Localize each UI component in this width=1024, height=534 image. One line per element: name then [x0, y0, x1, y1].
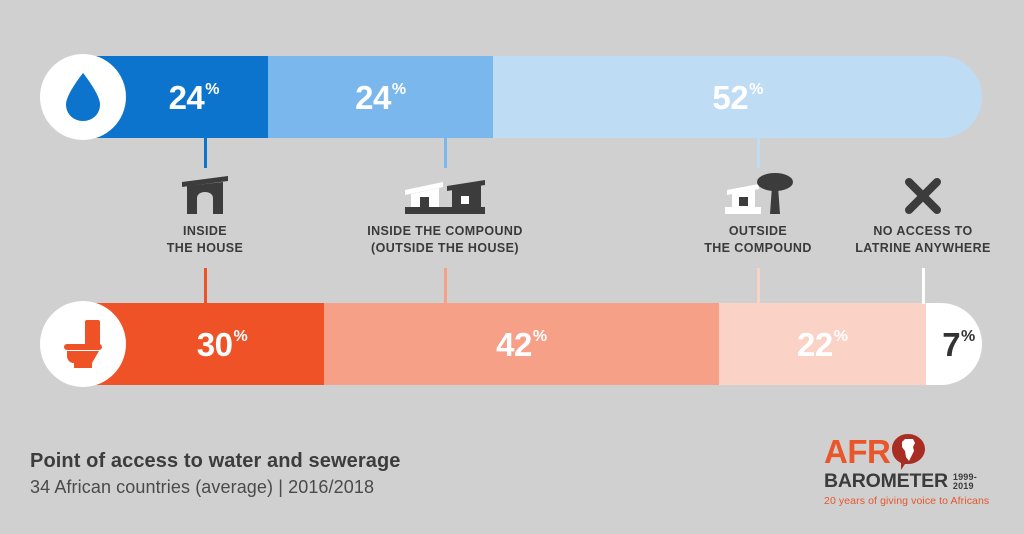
logo-barometer-row: BAROMETER 1999-2019 — [824, 472, 996, 492]
water-segment-inside-compound: 24% — [268, 56, 494, 138]
category-label-3: NO ACCESS TO LATRINE ANYWHERE — [838, 223, 1008, 257]
infographic-canvas: 24% 24% 52% 30% 42% 22% 7% — [0, 0, 1024, 534]
category-label-0: INSIDE THE HOUSE — [125, 223, 285, 257]
water-segment-outside-compound: 52% — [493, 56, 982, 138]
category-inside-the-compound: INSIDE THE COMPOUND (OUTSIDE THE HOUSE) — [330, 170, 560, 257]
category-no-access: NO ACCESS TO LATRINE ANYWHERE — [838, 170, 1008, 257]
connector-line-bottom-3 — [922, 268, 925, 304]
sewerage-value-3: 7% — [942, 328, 975, 361]
footer-caption: Point of access to water and sewerage 34… — [30, 450, 401, 498]
logo-tagline: 20 years of giving voice to Africans — [824, 496, 996, 507]
cross-x-icon — [838, 170, 1008, 216]
logo-speech-bubble-africa-icon — [891, 433, 927, 471]
water-value-2: 52% — [712, 81, 762, 114]
sewerage-segment-outside-compound: 22% — [719, 303, 926, 385]
connector-line-bottom-2 — [757, 268, 760, 304]
category-label-2: OUTSIDE THE COMPOUND — [678, 223, 838, 257]
water-access-bar: 24% 24% 52% — [42, 56, 982, 138]
connector-line-top-0 — [204, 138, 207, 168]
logo-years-text: 1999-2019 — [953, 473, 996, 492]
connector-line-top-2 — [757, 138, 760, 168]
compound-house-icon — [330, 170, 560, 216]
connector-line-bottom-0 — [204, 268, 207, 304]
house-tree-icon — [678, 170, 838, 216]
category-inside-the-house: INSIDE THE HOUSE — [125, 170, 285, 257]
afrobarometer-logo: AFR BAROMETER 1999-2019 20 years of givi… — [824, 432, 996, 504]
connector-line-top-1 — [444, 138, 447, 168]
logo-afro-text: AFR — [824, 435, 890, 468]
connector-line-bottom-1 — [444, 268, 447, 304]
water-value-1: 24% — [355, 81, 405, 114]
sewerage-access-bar: 30% 42% 22% 7% — [42, 303, 982, 385]
logo-barometer-text: BAROMETER — [824, 472, 948, 492]
logo-afro-wordmark: AFR — [824, 432, 996, 471]
sewerage-value-1: 42% — [496, 328, 546, 361]
house-icon — [125, 170, 285, 216]
sewerage-segment-inside-compound: 42% — [324, 303, 719, 385]
toilet-icon — [40, 301, 126, 387]
sewerage-segment-no-access: 7% — [926, 303, 982, 385]
sewerage-value-2: 22% — [797, 328, 847, 361]
category-outside-the-compound: OUTSIDE THE COMPOUND — [678, 170, 838, 257]
sewerage-value-0: 30% — [197, 328, 247, 361]
water-value-0: 24% — [169, 81, 219, 114]
water-drop-icon — [40, 54, 126, 140]
page-subtitle: 34 African countries (average) | 2016/20… — [30, 477, 401, 498]
category-label-1: INSIDE THE COMPOUND (OUTSIDE THE HOUSE) — [330, 223, 560, 257]
page-title: Point of access to water and sewerage — [30, 450, 401, 473]
